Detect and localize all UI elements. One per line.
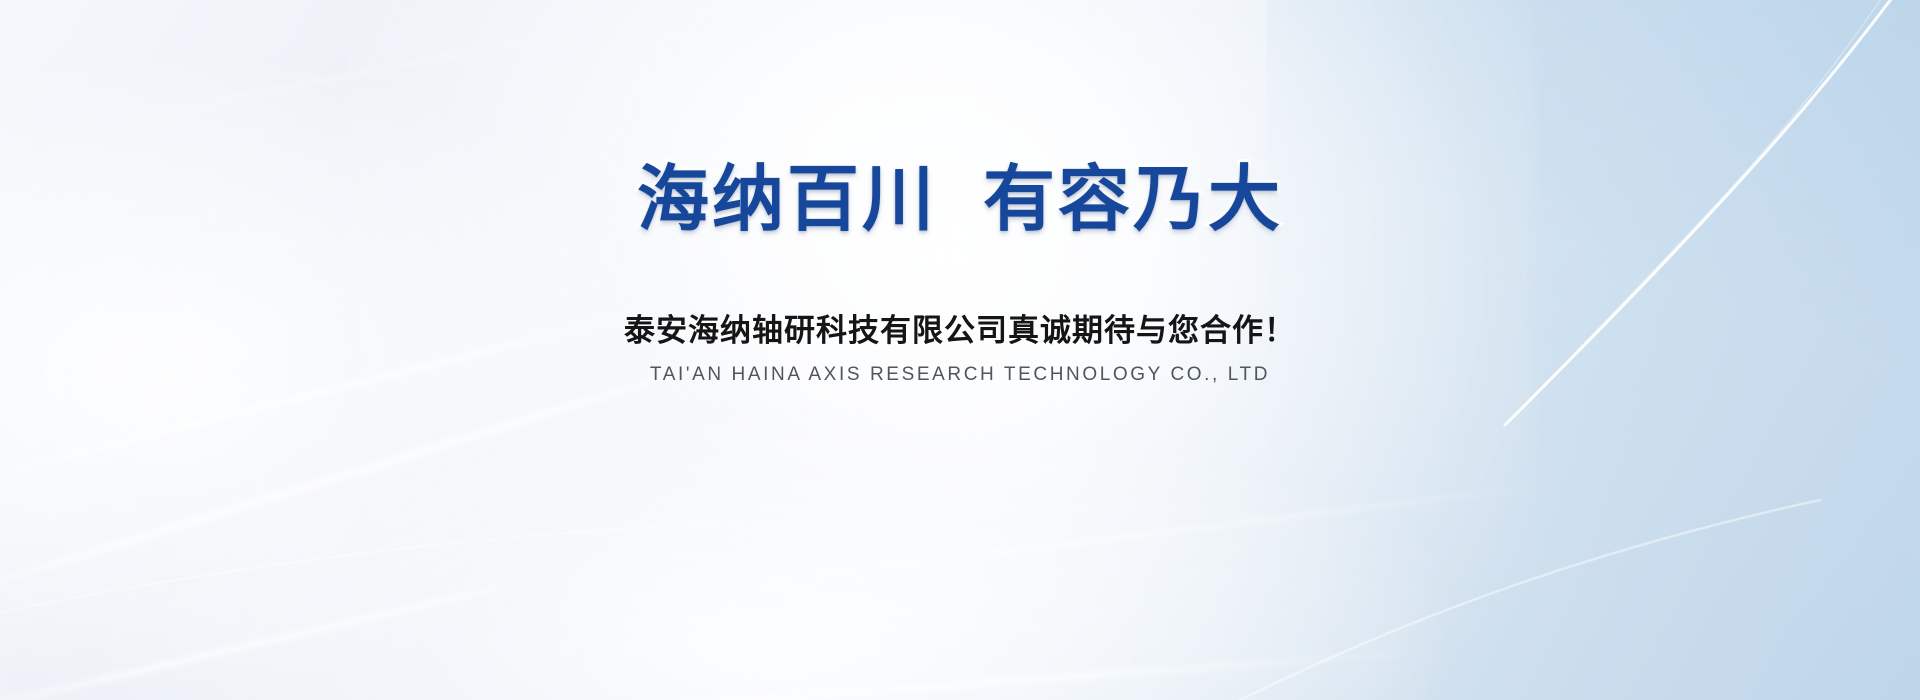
banner-subheading-chinese: 泰安海纳轴研科技有限公司真诚期待与您合作！ [624,305,1296,350]
banner-subheading-english: TAI'AN HAINA AXIS RESEARCH TECHNOLOGY CO… [650,364,1270,386]
hero-banner: 海纳百川 有容乃大 泰安海纳轴研科技有限公司真诚期待与您合作！ TAI'AN H… [0,0,1920,700]
banner-headline: 海纳百川 有容乃大 [637,163,1283,239]
banner-content: 海纳百川 有容乃大 泰安海纳轴研科技有限公司真诚期待与您合作！ TAI'AN H… [0,0,1920,700]
